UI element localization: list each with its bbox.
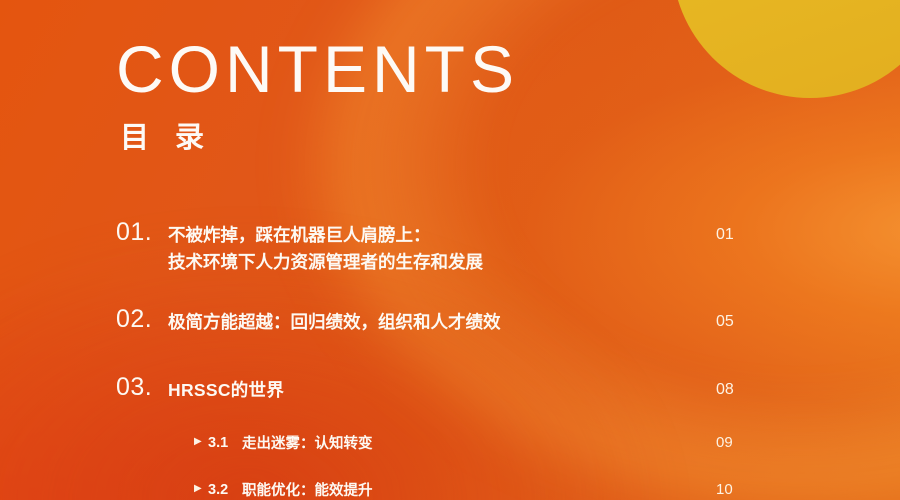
toc-entry-title-line1: 极简方能超越：回归绩效，组织和人才绩效 <box>168 312 501 332</box>
toc-entry-number: 03. <box>116 373 168 402</box>
toc-subentry-3-1[interactable]: ▶ 3.1 走出迷雾：认知转变 09 <box>116 432 756 453</box>
toc-subentry-index: 3.1 <box>208 435 242 451</box>
toc-entry-title: 极简方能超越：回归绩效，组织和人才绩效 <box>168 305 716 336</box>
contents-slide: CONTENTS 目 录 01. 不被炸掉，踩在机器巨人肩膀上： 技术环境下人力… <box>0 0 900 500</box>
toc-subentry-3-2[interactable]: ▶ 3.2 职能优化：能效提升 10 <box>116 479 756 500</box>
page-title: CONTENTS <box>116 36 519 102</box>
toc-subentry-index: 3.2 <box>208 482 242 498</box>
toc-entry-03[interactable]: 03. HRSSC的世界 08 <box>116 373 756 404</box>
table-of-contents: 01. 不被炸掉，踩在机器巨人肩膀上： 技术环境下人力资源管理者的生存和发展 0… <box>116 218 756 500</box>
toc-entry-01[interactable]: 01. 不被炸掉，踩在机器巨人肩膀上： 技术环境下人力资源管理者的生存和发展 0… <box>116 218 756 276</box>
toc-entry-page: 08 <box>716 373 756 398</box>
slide-header: CONTENTS 目 录 <box>116 36 519 153</box>
triangle-right-icon: ▶ <box>194 437 208 447</box>
toc-entry-number: 01. <box>116 218 168 247</box>
toc-subentry-page: 09 <box>716 434 756 451</box>
toc-entry-page: 01 <box>716 218 756 243</box>
toc-subentries: ▶ 3.1 走出迷雾：认知转变 09 ▶ 3.2 职能优化：能效提升 10 <box>116 432 756 500</box>
toc-entry-title: 不被炸掉，踩在机器巨人肩膀上： 技术环境下人力资源管理者的生存和发展 <box>168 218 716 276</box>
toc-entry-title-line1: HRSSC的世界 <box>168 380 284 400</box>
toc-subentry-label: 走出迷雾：认知转变 <box>242 432 716 453</box>
page-subtitle: 目 录 <box>120 124 519 153</box>
toc-entry-02[interactable]: 02. 极简方能超越：回归绩效，组织和人才绩效 05 <box>116 305 756 336</box>
toc-entry-number: 02. <box>116 305 168 334</box>
toc-entry-title: HRSSC的世界 <box>168 373 716 404</box>
toc-entry-page: 05 <box>716 305 756 330</box>
toc-entry-title-line2: 技术环境下人力资源管理者的生存和发展 <box>168 249 716 276</box>
toc-entry-title-line1: 不被炸掉，踩在机器巨人肩膀上： <box>168 225 431 245</box>
triangle-right-icon: ▶ <box>194 484 208 494</box>
toc-subentry-page: 10 <box>716 481 756 498</box>
toc-subentry-label: 职能优化：能效提升 <box>242 479 716 500</box>
